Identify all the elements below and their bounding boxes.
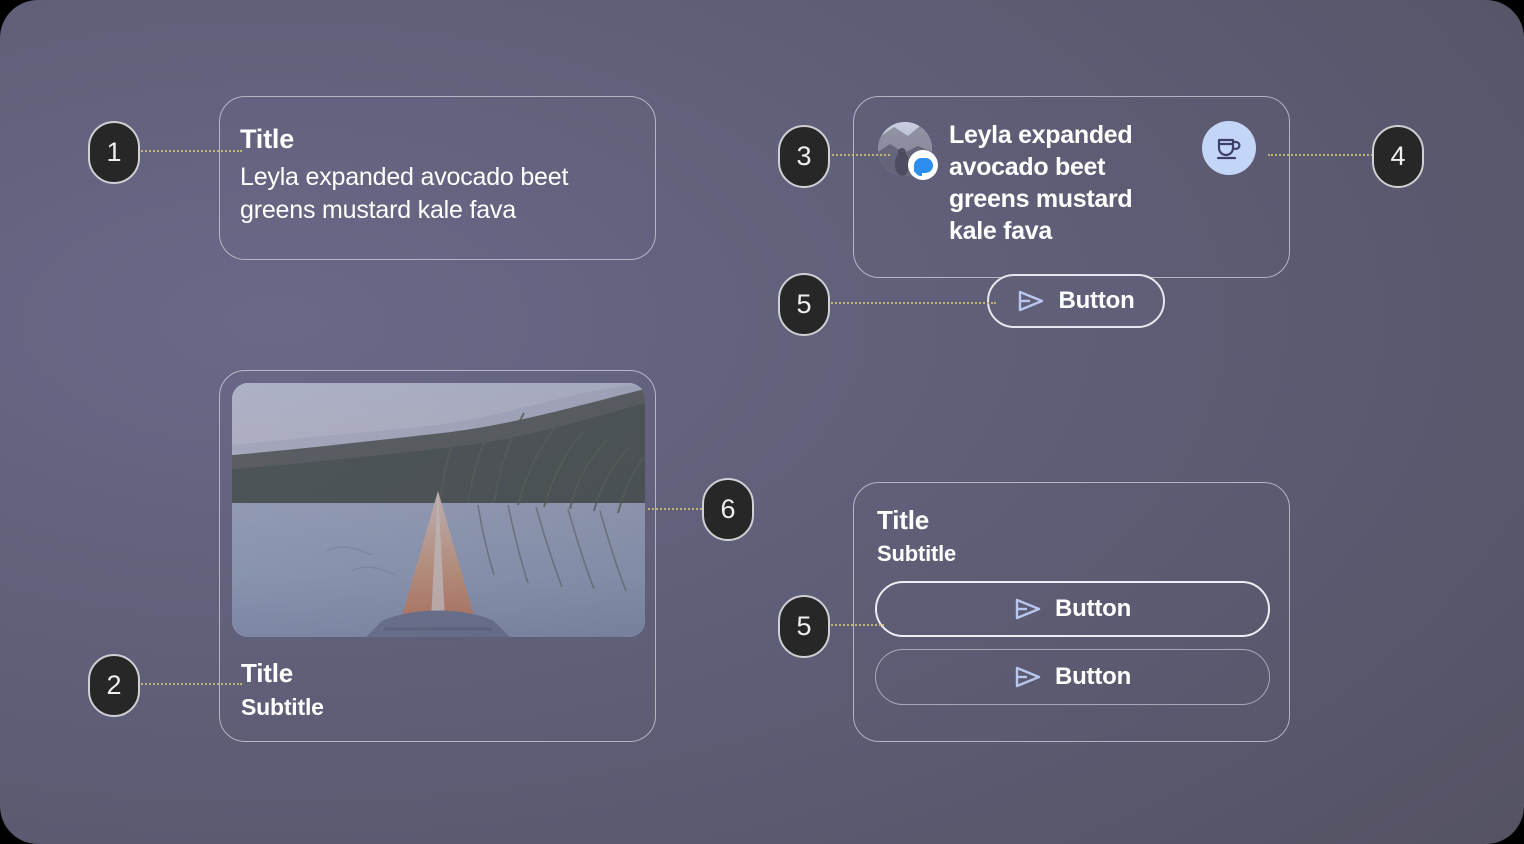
annotation-badge-5a[interactable]: 5 xyxy=(778,273,830,336)
media-card[interactable]: Title Subtitle xyxy=(219,370,656,742)
leader-line-3 xyxy=(828,154,890,156)
annotation-badge-3[interactable]: 3 xyxy=(778,125,830,188)
media-card-subtitle: Subtitle xyxy=(241,694,643,721)
actions-card-secondary-button[interactable]: Button xyxy=(875,649,1270,705)
avatar-card-headline: Leyla expanded avocado beet greens musta… xyxy=(949,119,1185,247)
avatar[interactable] xyxy=(878,122,932,176)
actions-card-primary-button-label: Button xyxy=(1055,595,1131,623)
annotation-badge-5b[interactable]: 5 xyxy=(778,595,830,658)
actions-card-subtitle: Subtitle xyxy=(877,541,1268,567)
annotated-card-canvas: Title Leyla expanded avocado beet greens… xyxy=(0,0,1524,844)
kayak-lake-photo xyxy=(232,383,645,637)
send-triangle-icon xyxy=(1014,665,1042,689)
actions-card[interactable]: Title Subtitle Button Button xyxy=(853,482,1290,742)
chat-bubble-icon xyxy=(908,150,938,180)
overlay-button[interactable]: Button xyxy=(987,274,1165,328)
media-card-title: Title xyxy=(241,658,643,689)
annotation-badge-6[interactable]: 6 xyxy=(702,478,754,541)
leader-line-4 xyxy=(1268,154,1376,156)
text-card-body: Leyla expanded avocado beet greens musta… xyxy=(240,161,627,227)
leader-line-6 xyxy=(648,508,706,510)
overlay-button-label: Button xyxy=(1058,287,1134,315)
leader-line-5a xyxy=(828,302,996,304)
actions-card-primary-button[interactable]: Button xyxy=(875,581,1270,637)
send-triangle-icon xyxy=(1017,289,1045,313)
leader-line-1 xyxy=(138,150,242,152)
actions-card-secondary-button-label: Button xyxy=(1055,663,1131,691)
actions-card-title: Title xyxy=(877,505,1268,536)
media-card-image[interactable] xyxy=(232,383,645,637)
annotation-badge-2[interactable]: 2 xyxy=(88,654,140,717)
avatar-card[interactable]: Leyla expanded avocado beet greens musta… xyxy=(853,96,1290,278)
leader-line-5b xyxy=(828,624,884,626)
send-triangle-icon xyxy=(1014,597,1042,621)
annotation-badge-4[interactable]: 4 xyxy=(1372,125,1424,188)
text-card[interactable]: Title Leyla expanded avocado beet greens… xyxy=(219,96,656,260)
annotation-badge-1[interactable]: 1 xyxy=(88,121,140,184)
text-card-title: Title xyxy=(240,125,627,153)
leader-line-2 xyxy=(138,683,242,685)
coffee-cup-icon[interactable] xyxy=(1202,121,1256,175)
